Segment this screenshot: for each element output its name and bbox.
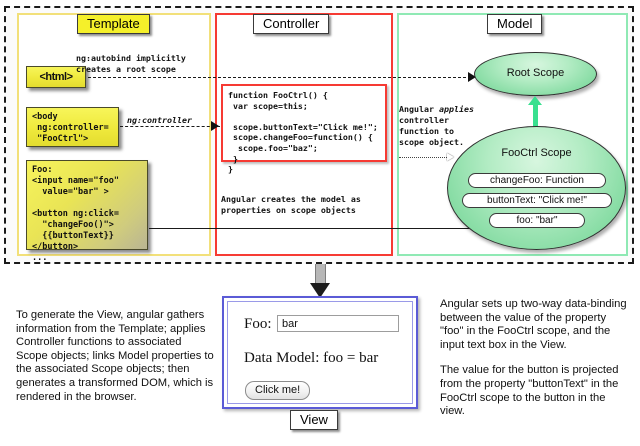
annotation-ng-autobind: ng:autobind implicitly creates a root sc… bbox=[76, 53, 186, 75]
diagram-canvas: Template Controller Model <html> <body n… bbox=[0, 0, 640, 446]
connector-template-to-foo-property bbox=[149, 228, 487, 229]
annotation-applies-emphasis: applies bbox=[439, 104, 474, 114]
annotation-creates-model: Angular creates the model as properties … bbox=[221, 194, 361, 216]
scope-inheritance-arrow-head bbox=[528, 96, 542, 105]
view-data-model-text: Data Model: foo = bar bbox=[244, 350, 378, 367]
connector-html-to-root-scope bbox=[88, 77, 471, 78]
root-scope-oval: Root Scope bbox=[474, 52, 597, 96]
explanation-right: Angular sets up two-way data-binding bet… bbox=[440, 298, 630, 431]
fooctrl-scope-oval: FooCtrl Scope bbox=[447, 126, 626, 250]
annotation-applies-prefix: Angular bbox=[399, 104, 439, 114]
connector-body-to-controller bbox=[120, 126, 220, 127]
view-box: Foo: bar Data Model: foo = bar Click me! bbox=[222, 296, 418, 409]
annotation-applies-suffix: controller function to scope object. bbox=[399, 115, 464, 147]
panel-title-template: Template bbox=[77, 14, 150, 34]
controller-code-box: function FooCtrl() { var scope=this; sco… bbox=[221, 84, 387, 162]
scope-property-buttontext: buttonText: "Click me!" bbox=[462, 193, 612, 208]
explanation-left: To generate the View, angular gathers in… bbox=[16, 309, 214, 404]
root-scope-label: Root Scope bbox=[475, 67, 596, 79]
arrowhead-controller bbox=[211, 121, 219, 131]
scope-inheritance-arrow-stem bbox=[533, 104, 538, 128]
explanation-right-buttontext: The value for the button is projected fr… bbox=[440, 364, 630, 418]
panel-title-model: Model bbox=[487, 14, 542, 34]
view-click-me-button[interactable]: Click me! bbox=[245, 381, 310, 400]
fooctrl-scope-label: FooCtrl Scope bbox=[448, 147, 625, 159]
scope-property-foo: foo: "bar" bbox=[489, 213, 585, 228]
annotation-applies-controller: Angular applies controller function to s… bbox=[399, 104, 474, 148]
view-generation-arrow-stem bbox=[315, 264, 326, 285]
template-body-tag-box: <body ng:controller= "FooCtrl"> bbox=[26, 107, 119, 147]
template-markup-box: Foo: <input name="foo" value="bar" > <bu… bbox=[26, 160, 148, 250]
view-foo-label: Foo: bbox=[244, 316, 272, 333]
scope-property-changefoo: changeFoo: Function bbox=[468, 173, 606, 188]
panel-title-view: View bbox=[290, 410, 338, 430]
connector-controller-to-scope bbox=[399, 157, 449, 158]
panel-title-controller: Controller bbox=[253, 14, 329, 34]
view-foo-input[interactable]: bar bbox=[277, 315, 399, 332]
explanation-right-databinding: Angular sets up two-way data-binding bet… bbox=[440, 298, 630, 352]
annotation-ng-controller: ng:controller bbox=[127, 115, 192, 126]
